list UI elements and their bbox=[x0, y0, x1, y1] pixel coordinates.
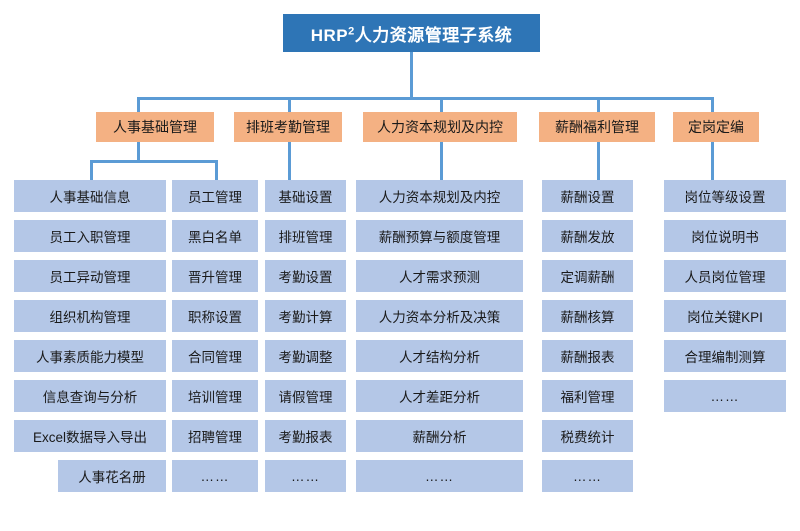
leaf-item[interactable]: 税费统计 bbox=[542, 420, 633, 452]
category-box-dinggang-dingbian[interactable]: 定岗定编 bbox=[673, 112, 759, 142]
leaf-item[interactable]: 招聘管理 bbox=[172, 420, 258, 452]
connector-cat1-to-col1 bbox=[90, 160, 93, 180]
leaf-item[interactable]: 薪酬核算 bbox=[542, 300, 633, 332]
leaf-item[interactable]: 福利管理 bbox=[542, 380, 633, 412]
leaf-column-6: 岗位等级设置 岗位说明书 人员岗位管理 岗位关键KPI 合理编制测算 …… bbox=[664, 180, 786, 412]
category-box-paiban-kaoqin[interactable]: 排班考勤管理 bbox=[234, 112, 342, 142]
leaf-item-ellipsis[interactable]: …… bbox=[265, 460, 346, 492]
leaf-item[interactable]: 考勤计算 bbox=[265, 300, 346, 332]
leaf-column-3: 基础设置 排班管理 考勤设置 考勤计算 考勤调整 请假管理 考勤报表 …… bbox=[265, 180, 346, 492]
leaf-item[interactable]: 岗位说明书 bbox=[664, 220, 786, 252]
connector-horizontal-bus bbox=[137, 97, 714, 100]
leaf-item[interactable]: 培训管理 bbox=[172, 380, 258, 412]
leaf-item[interactable]: 定调薪酬 bbox=[542, 260, 633, 292]
leaf-item[interactable]: 人力资本分析及决策 bbox=[356, 300, 523, 332]
org-chart-diagram: HRP2人力资源管理子系统 人事基础管理 排班考勤管理 人力资本规划及内控 薪酬… bbox=[0, 0, 800, 531]
leaf-item[interactable]: 合同管理 bbox=[172, 340, 258, 372]
leaf-item[interactable]: 薪酬设置 bbox=[542, 180, 633, 212]
leaf-item[interactable]: 员工入职管理 bbox=[14, 220, 166, 252]
leaf-item[interactable]: 员工管理 bbox=[172, 180, 258, 212]
connector-bus-to-category-2 bbox=[288, 97, 291, 113]
leaf-item[interactable]: 人员岗位管理 bbox=[664, 260, 786, 292]
leaf-column-4: 人力资本规划及内控 薪酬预算与额度管理 人才需求预测 人力资本分析及决策 人才结… bbox=[356, 180, 523, 492]
connector-cat5-to-col6 bbox=[711, 142, 714, 180]
leaf-item-ellipsis[interactable]: …… bbox=[356, 460, 523, 492]
connector-cat1-stem bbox=[137, 142, 140, 162]
leaf-item[interactable]: 薪酬预算与额度管理 bbox=[356, 220, 523, 252]
leaf-item[interactable]: 人才需求预测 bbox=[356, 260, 523, 292]
leaf-item[interactable]: 岗位关键KPI bbox=[664, 300, 786, 332]
category-label: 人事基础管理 bbox=[113, 117, 197, 137]
leaf-item[interactable]: Excel数据导入导出 bbox=[14, 420, 166, 452]
leaf-item[interactable]: 岗位等级设置 bbox=[664, 180, 786, 212]
leaf-item[interactable]: 考勤设置 bbox=[265, 260, 346, 292]
leaf-item[interactable]: 人事花名册 bbox=[58, 460, 166, 492]
leaf-item[interactable]: 人事基础信息 bbox=[14, 180, 166, 212]
category-label: 薪酬福利管理 bbox=[555, 117, 639, 137]
leaf-column-5: 薪酬设置 薪酬发放 定调薪酬 薪酬核算 薪酬报表 福利管理 税费统计 …… bbox=[542, 180, 633, 492]
leaf-item[interactable]: 晋升管理 bbox=[172, 260, 258, 292]
connector-root-stem bbox=[410, 52, 413, 98]
category-box-xinchou-fuli[interactable]: 薪酬福利管理 bbox=[539, 112, 655, 142]
category-label: 定岗定编 bbox=[688, 117, 744, 137]
leaf-item[interactable]: 薪酬报表 bbox=[542, 340, 633, 372]
leaf-item-ellipsis[interactable]: …… bbox=[172, 460, 258, 492]
leaf-item[interactable]: 人力资本规划及内控 bbox=[356, 180, 523, 212]
leaf-item[interactable]: 组织机构管理 bbox=[14, 300, 166, 332]
leaf-item[interactable]: 员工异动管理 bbox=[14, 260, 166, 292]
leaf-item[interactable]: 薪酬分析 bbox=[356, 420, 523, 452]
category-box-renli-ziben[interactable]: 人力资本规划及内控 bbox=[363, 112, 517, 142]
leaf-item-ellipsis[interactable]: …… bbox=[542, 460, 633, 492]
leaf-item[interactable]: 黑白名单 bbox=[172, 220, 258, 252]
connector-bus-to-category-1 bbox=[137, 97, 140, 113]
leaf-item[interactable]: 职称设置 bbox=[172, 300, 258, 332]
connector-bus-to-category-4 bbox=[597, 97, 600, 113]
connector-cat2-to-col3 bbox=[288, 142, 291, 180]
leaf-item-ellipsis[interactable]: …… bbox=[664, 380, 786, 412]
leaf-item[interactable]: 考勤调整 bbox=[265, 340, 346, 372]
category-label: 排班考勤管理 bbox=[246, 117, 330, 137]
leaf-item[interactable]: 人事素质能力模型 bbox=[14, 340, 166, 372]
leaf-item[interactable]: 人才结构分析 bbox=[356, 340, 523, 372]
leaf-column-2: 员工管理 黑白名单 晋升管理 职称设置 合同管理 培训管理 招聘管理 …… bbox=[172, 180, 258, 492]
leaf-item[interactable]: 考勤报表 bbox=[265, 420, 346, 452]
leaf-item[interactable]: 信息查询与分析 bbox=[14, 380, 166, 412]
leaf-item[interactable]: 排班管理 bbox=[265, 220, 346, 252]
category-label: 人力资本规划及内控 bbox=[377, 117, 503, 137]
category-box-renshi-jichu[interactable]: 人事基础管理 bbox=[96, 112, 214, 142]
leaf-item[interactable]: 基础设置 bbox=[265, 180, 346, 212]
connector-cat4-to-col5 bbox=[597, 142, 600, 180]
root-node-label: HRP2人力资源管理子系统 bbox=[311, 21, 513, 46]
connector-cat3-to-col4 bbox=[440, 142, 443, 180]
leaf-item[interactable]: 合理编制测算 bbox=[664, 340, 786, 372]
connector-bus-to-category-3 bbox=[440, 97, 443, 113]
leaf-column-1: 人事基础信息 员工入职管理 员工异动管理 组织机构管理 人事素质能力模型 信息查… bbox=[14, 180, 166, 492]
leaf-item[interactable]: 薪酬发放 bbox=[542, 220, 633, 252]
connector-cat1-to-col2 bbox=[215, 160, 218, 180]
connector-bus-to-category-5 bbox=[711, 97, 714, 113]
root-node[interactable]: HRP2人力资源管理子系统 bbox=[283, 14, 540, 52]
leaf-item[interactable]: 人才差距分析 bbox=[356, 380, 523, 412]
leaf-item[interactable]: 请假管理 bbox=[265, 380, 346, 412]
connector-cat1-fork-bar bbox=[90, 160, 218, 163]
